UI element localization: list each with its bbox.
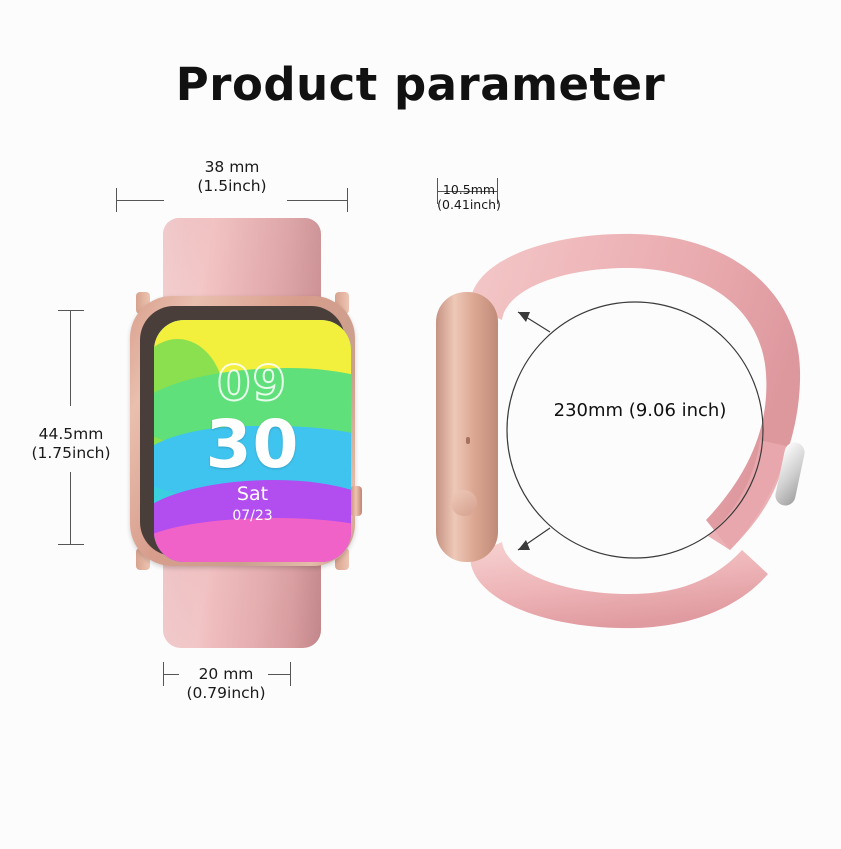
front-height-rule-top	[70, 310, 71, 406]
watch-bezel: 09 30 Sat 07/23	[140, 306, 345, 556]
strap-width-tick-right	[290, 662, 291, 686]
front-height-tick-top	[58, 310, 84, 311]
watchface-hour: 09	[154, 356, 351, 412]
thickness-label: 10.5mm (0.41inch)	[432, 182, 506, 212]
strap-width-label: 20 mm (0.79inch)	[162, 665, 290, 703]
thickness-secondary: (0.41inch)	[432, 197, 506, 212]
watchface-weekday: Sat	[154, 483, 351, 505]
front-height-label: 44.5mm (1.75inch)	[18, 425, 124, 463]
product-parameter-diagram: Product parameter 38 mm (1.5inch) 44.5mm…	[0, 0, 841, 849]
front-height-tick-bottom	[58, 544, 84, 545]
strap-width-primary: 20 mm	[199, 665, 254, 683]
front-height-primary: 44.5mm	[39, 425, 104, 443]
watchface-minute: 30	[154, 406, 351, 483]
front-watch-illustration: 09 30 Sat 07/23	[130, 218, 355, 648]
arrow-head-top	[518, 312, 530, 322]
band-length-primary: 230mm	[554, 400, 623, 421]
watch-screen: 09 30 Sat 07/23	[154, 320, 351, 562]
front-width-rule-right	[287, 200, 347, 201]
band-length-annotation	[430, 220, 820, 640]
front-width-secondary: (1.5inch)	[150, 177, 314, 196]
front-width-tick-left	[116, 188, 117, 212]
front-width-label: 38 mm (1.5inch)	[150, 158, 314, 196]
band-length-circle	[507, 302, 763, 558]
front-height-secondary: (1.75inch)	[18, 444, 124, 463]
watchface-date: 07/23	[154, 508, 351, 524]
thickness-primary: 10.5mm	[443, 182, 495, 197]
side-watch-illustration: 230mm (9.06 inch)	[430, 220, 820, 640]
page-title: Product parameter	[0, 58, 841, 111]
strap-width-secondary: (0.79inch)	[162, 684, 290, 703]
band-length-secondary: (9.06 inch)	[629, 400, 727, 421]
watch-case-front: 09 30 Sat 07/23	[130, 296, 355, 566]
front-width-tick-right	[347, 188, 348, 212]
front-width-primary: 38 mm	[205, 158, 260, 176]
arrow-head-bottom	[518, 540, 530, 550]
front-width-rule-left	[116, 200, 164, 201]
band-length-label: 230mm (9.06 inch)	[550, 398, 730, 424]
watchface-texts: 09 30 Sat 07/23	[154, 320, 351, 562]
front-height-rule-bottom	[70, 472, 71, 544]
watch-crown	[350, 486, 362, 516]
